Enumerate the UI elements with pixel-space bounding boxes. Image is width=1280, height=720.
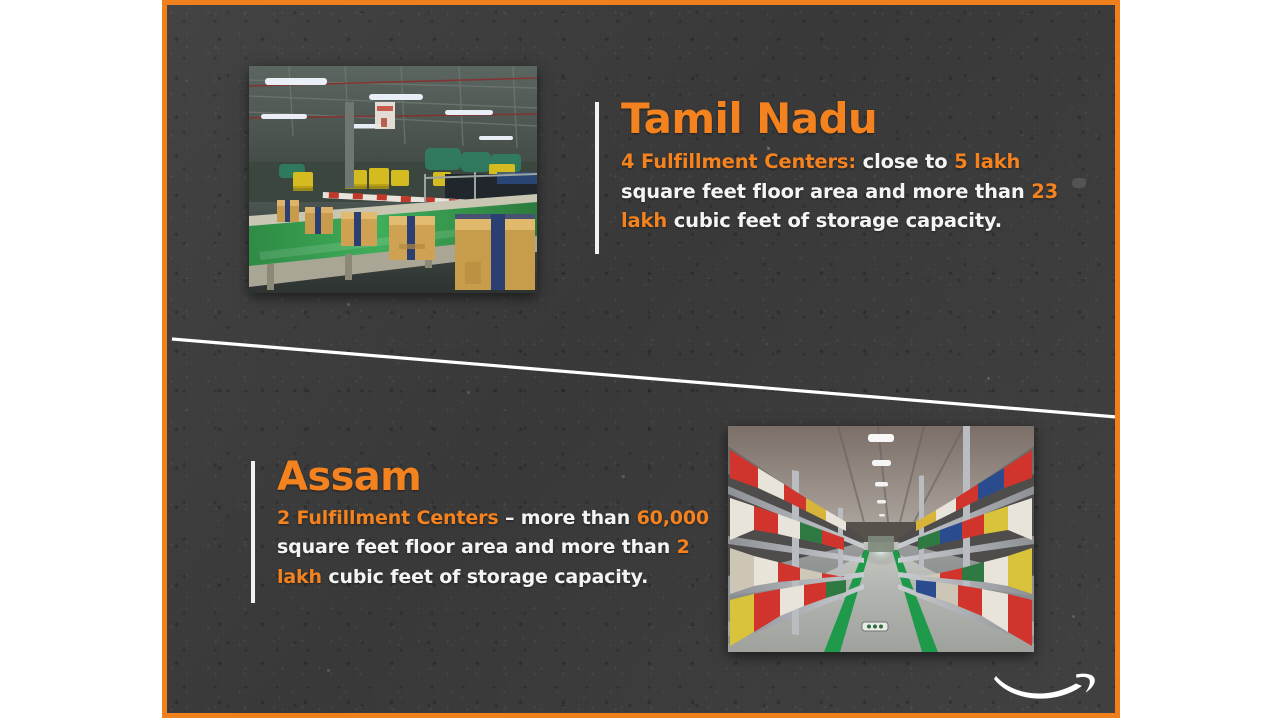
accent-bar-assam — [251, 461, 255, 603]
aisle-photo-graphic — [728, 426, 1034, 652]
text-segment: cubic feet of storage capacity. — [322, 566, 648, 588]
stat-floor-area: 5 lakh — [954, 150, 1020, 173]
amazon-smile-arrow-icon — [990, 666, 1102, 706]
text-segment: square feet floor area and more than — [277, 536, 677, 558]
text-segment: – more than — [498, 507, 636, 529]
accent-bar-tamil-nadu — [595, 102, 599, 254]
presentation-slide: Tamil Nadu 4 Fulfillment Centers: close … — [162, 0, 1120, 718]
section-tamil-nadu: Tamil Nadu 4 Fulfillment Centers: close … — [595, 98, 1095, 236]
background-speck — [987, 377, 990, 380]
background-speck — [347, 303, 350, 306]
stat-floor-area: 60,000 — [637, 507, 709, 529]
background-speck — [467, 391, 470, 394]
stat-fulfillment-centers: 4 Fulfillment Centers: — [621, 150, 856, 173]
text-segment: square feet floor area and more than — [621, 180, 1031, 203]
heading-assam: Assam — [251, 457, 721, 498]
body-assam: 2 Fulfillment Centers – more than 60,000… — [251, 504, 721, 592]
conveyor-photo-graphic — [249, 66, 537, 293]
section-assam: Assam 2 Fulfillment Centers – more than … — [251, 457, 721, 592]
stat-fulfillment-centers: 2 Fulfillment Centers — [277, 507, 498, 529]
background-speck — [1072, 615, 1075, 618]
background-speck — [327, 669, 330, 672]
body-tamil-nadu: 4 Fulfillment Centers: close to 5 lakh s… — [595, 147, 1095, 236]
text-segment: close to — [856, 150, 954, 173]
fulfillment-center-conveyor-photo — [249, 66, 537, 293]
amazon-smile-logo — [990, 666, 1102, 706]
heading-tamil-nadu: Tamil Nadu — [595, 98, 1095, 141]
slide-canvas: Tamil Nadu 4 Fulfillment Centers: close … — [0, 0, 1280, 720]
fulfillment-center-aisle-photo — [728, 426, 1034, 652]
text-segment: cubic feet of storage capacity. — [667, 209, 1002, 232]
